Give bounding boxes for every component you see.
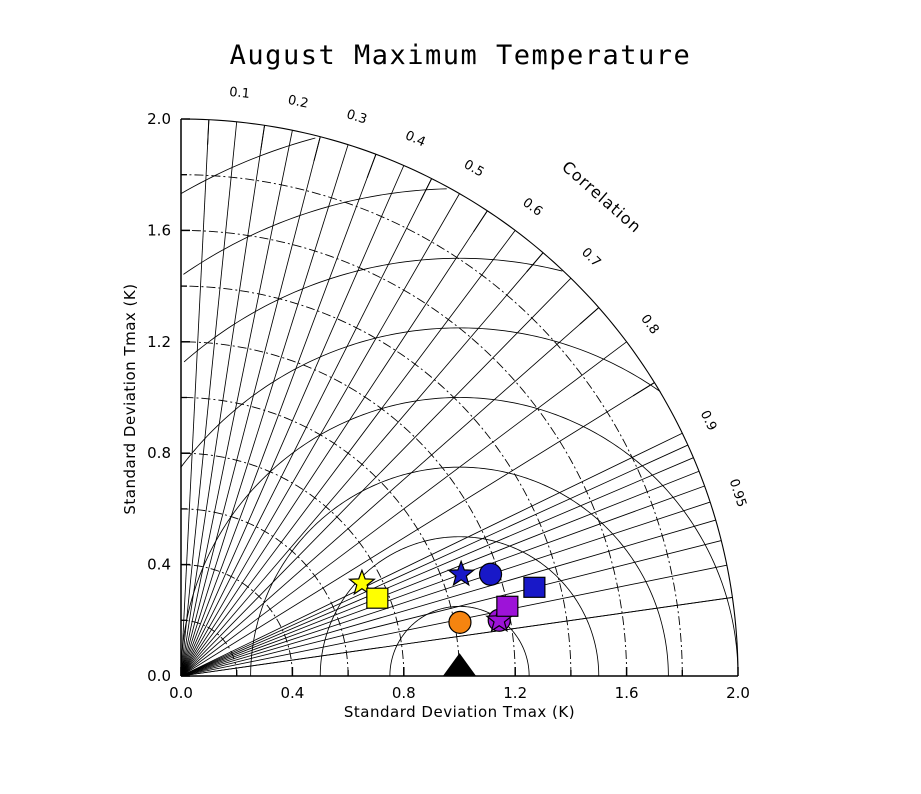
point-yellow-square[interactable] <box>367 588 388 608</box>
correlation-tick-label: 0.95 <box>726 477 749 509</box>
correlation-radial-line <box>181 230 515 676</box>
correlation-minor-tick <box>314 137 320 161</box>
correlation-tick-label: 0.6 <box>520 195 546 219</box>
correlation-minor-tick <box>208 120 209 145</box>
correlation-radial-line <box>181 486 705 676</box>
correlation-radial-line <box>181 130 292 676</box>
point-purple-square[interactable] <box>497 596 518 616</box>
taylor-diagram-figure: August Maximum Temperature 0.00.00.40.40… <box>0 0 921 794</box>
correlation-radial-line <box>181 471 699 676</box>
point-orange-circle[interactable] <box>449 611 471 633</box>
y-axis-tick-label: 0.0 <box>147 667 171 685</box>
stddev-arc <box>181 175 682 676</box>
x-axis-label: Standard Deviation Tmax (K) <box>181 703 738 721</box>
grid-layer <box>181 119 738 676</box>
correlation-radial-line <box>181 433 682 676</box>
correlation-minor-tick <box>474 211 488 232</box>
x-axis-tick-label: 0.4 <box>280 684 304 702</box>
y-axis-tick-label: 0.4 <box>147 556 171 574</box>
correlation-tick-label: 0.3 <box>345 107 369 128</box>
correlation-minor-tick <box>633 383 654 396</box>
correlation-tick-label: 0.4 <box>403 128 428 150</box>
stddev-arc <box>181 230 627 676</box>
correlation-minor-tick <box>580 308 599 325</box>
correlation-axis-title: Correlation <box>558 157 645 237</box>
stddev-arc <box>181 453 404 676</box>
point-blue-square[interactable] <box>524 577 545 597</box>
y-axis-tick-label: 1.2 <box>147 333 171 351</box>
x-axis-tick-label: 0.0 <box>169 684 193 702</box>
reference-point-marker[interactable] <box>444 654 476 676</box>
stddev-arc <box>181 286 571 676</box>
rmsd-arc <box>181 138 315 194</box>
x-axis-tick-label: 2.0 <box>726 684 750 702</box>
point-blue-circle[interactable] <box>480 563 502 585</box>
x-axis-tick-label: 1.6 <box>615 684 639 702</box>
correlation-radial-line <box>181 520 716 676</box>
correlation-tick-label: 0.9 <box>697 408 720 433</box>
x-axis-tick-label: 1.2 <box>503 684 527 702</box>
correlation-radial-line <box>181 154 376 676</box>
correlation-minor-tick <box>367 154 376 177</box>
correlation-tick-label: 0.5 <box>461 157 486 180</box>
correlation-minor-tick <box>261 125 265 150</box>
correlation-radial-line <box>181 308 599 676</box>
y-axis-tick-label: 1.6 <box>147 221 171 239</box>
y-axis-label: Standard Deviation Tmax (K) <box>121 119 139 679</box>
correlation-radial-line <box>181 342 627 676</box>
correlation-tick-label: 0.2 <box>286 93 309 112</box>
correlation-tick-label: 0.7 <box>578 245 603 270</box>
y-axis-tick-label: 2.0 <box>147 110 171 128</box>
correlation-radial-line <box>181 122 237 676</box>
correlation-tick-label: 0.1 <box>229 85 251 102</box>
correlation-tick-label: 0.8 <box>637 312 661 338</box>
y-axis-tick-label: 0.8 <box>147 444 171 462</box>
correlation-radial-line <box>181 145 348 676</box>
correlation-minor-tick <box>527 253 543 272</box>
correlation-radial-line <box>181 502 710 676</box>
x-axis-tick-label: 0.8 <box>392 684 416 702</box>
stddev-arc <box>181 398 460 677</box>
